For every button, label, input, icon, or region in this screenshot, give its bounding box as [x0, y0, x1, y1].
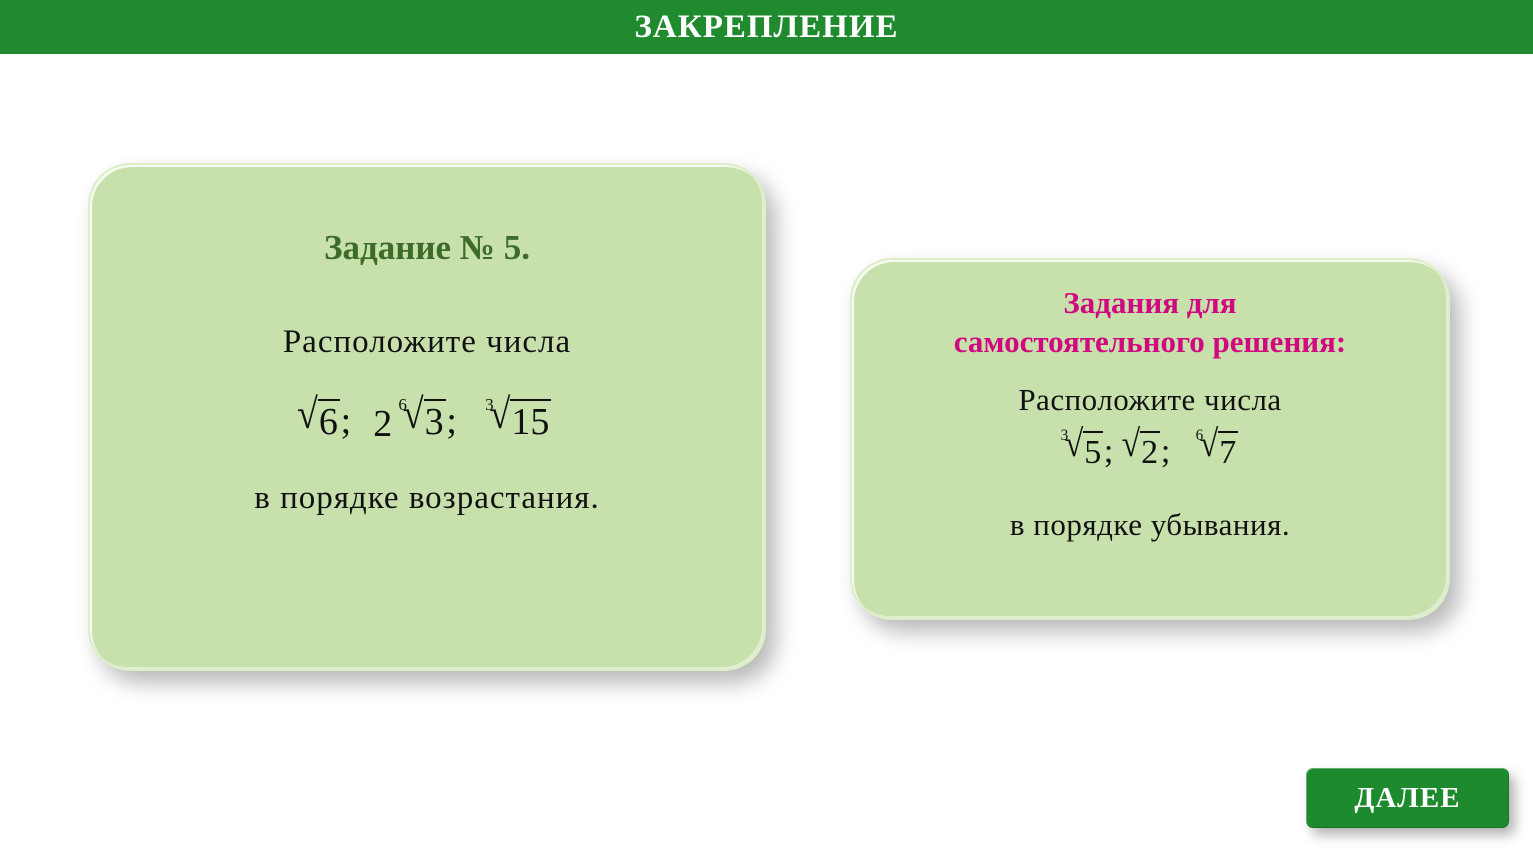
term-separator: ; — [1160, 433, 1176, 471]
radicand: 6 — [318, 399, 340, 443]
radical-icon: √ 2 — [1121, 430, 1160, 471]
task-card-prompt: Расположите числа — [283, 321, 571, 364]
task-card-instruction: в порядке возрастания. — [254, 477, 599, 520]
term-separator: ; — [340, 399, 358, 443]
radical-icon: √ 6 — [297, 398, 340, 443]
term-separator: ; — [446, 399, 464, 443]
independent-work-card: Задания для самостоятельного решения: Ра… — [850, 258, 1450, 620]
radical-index: 6 — [1196, 428, 1204, 443]
radical-term-3: 6 √ 7 — [1190, 430, 1245, 471]
independent-work-title-line-2: самостоятельного решения: — [954, 323, 1347, 362]
independent-work-prompt: Расположите числа — [1018, 380, 1281, 420]
independent-work-instruction: в порядке убывания. — [1010, 505, 1290, 545]
header-bar: ЗАКРЕПЛЕНИЕ — [0, 0, 1533, 54]
independent-work-expression: 3 √ 5 ; √ 2 ; 6 √ 7 — [1055, 430, 1245, 471]
radicand: 5 — [1083, 431, 1103, 471]
page-title: ЗАКРЕПЛЕНИЕ — [635, 11, 899, 44]
radical-index: 6 — [398, 396, 407, 413]
radical-sign: √ — [297, 393, 318, 436]
task-card-title: Задание № 5. — [324, 227, 530, 269]
radicand: 15 — [510, 399, 551, 443]
radical-term-2: 2 6 √ 3 ; — [373, 398, 464, 443]
radical-term-2: √ 2 ; — [1119, 430, 1176, 471]
radical-index: 3 — [485, 396, 494, 413]
radical-term-1: 3 √ 5 ; — [1055, 430, 1120, 471]
radical-icon: 3 √ 5 — [1057, 430, 1103, 471]
term-separator: ; — [1103, 433, 1119, 471]
coefficient: 2 — [373, 405, 394, 443]
independent-work-title-line-1: Задания для — [1063, 284, 1236, 323]
task-card-expression: √ 6 ; 2 6 √ 3 ; 3 √ 15 — [295, 398, 559, 443]
radical-index: 3 — [1061, 428, 1069, 443]
radical-sign: √ — [1121, 426, 1140, 464]
radical-icon: 3 √ 15 — [481, 398, 551, 443]
next-button[interactable]: ДАЛЕЕ — [1306, 768, 1509, 828]
radical-icon: 6 √ 7 — [1192, 430, 1238, 471]
radicand: 3 — [424, 399, 446, 443]
task-card: Задание № 5. Расположите числа √ 6 ; 2 6… — [88, 163, 766, 671]
radicand: 2 — [1140, 431, 1160, 471]
next-button-label: ДАЛЕЕ — [1354, 784, 1460, 813]
radicand: 7 — [1218, 431, 1238, 471]
radical-term-1: √ 6 ; — [295, 398, 358, 443]
radical-term-3: 3 √ 15 — [479, 398, 559, 443]
radical-icon: 6 √ 3 — [394, 398, 445, 443]
